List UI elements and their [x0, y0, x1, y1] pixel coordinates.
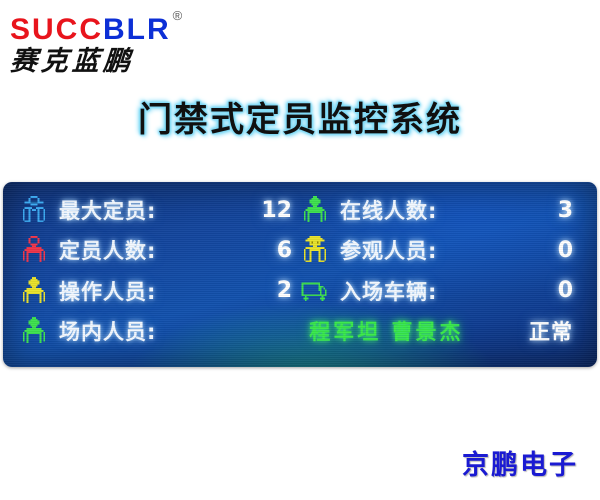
- led-cell-vehicle-count: 入场车辆: 0: [300, 276, 581, 306]
- led-row: 定员人数: 6 参观人员:: [19, 233, 581, 267]
- led-value: 3: [437, 198, 581, 223]
- led-value: 2: [156, 278, 300, 303]
- person-yellow-icon: [19, 277, 49, 305]
- person-hat-yellow-icon: [300, 236, 330, 264]
- onsite-person-names: 程军坦 曹景杰: [244, 316, 529, 346]
- led-label: 定员人数:: [59, 235, 156, 265]
- person-green-icon: [19, 317, 49, 345]
- logo-latin-text: SUCCBLR®: [10, 8, 260, 46]
- person-hat-blue-icon: [19, 196, 49, 224]
- person-red-icon: [19, 236, 49, 264]
- led-panel-content: 最大定员: 12 在线人数: 3: [19, 190, 581, 351]
- led-label: 入场车辆:: [340, 276, 437, 306]
- led-value: 0: [437, 278, 581, 303]
- led-value: 6: [156, 238, 300, 263]
- led-cell-onsite-label: 场内人员:: [19, 316, 244, 346]
- person-green-icon: [300, 196, 330, 224]
- led-cell-registered-count: 定员人数: 6: [19, 235, 300, 265]
- status-badge: 正常: [529, 316, 581, 346]
- led-label: 场内人员:: [59, 316, 156, 346]
- led-cell-max-capacity: 最大定员: 12: [19, 195, 300, 225]
- truck-green-icon: [300, 277, 330, 305]
- company-logo: SUCCBLR® 赛克蓝鹏: [10, 8, 260, 78]
- led-label: 最大定员:: [59, 195, 156, 225]
- led-cell-onsite-values: 程军坦 曹景杰 正常: [244, 316, 581, 346]
- led-value: 12: [156, 198, 300, 223]
- led-row-onsite: 场内人员: 程军坦 曹景杰 正常: [19, 314, 581, 348]
- logo-chinese-text: 赛克蓝鹏: [9, 47, 261, 77]
- logo-text-blr: BLR: [103, 13, 171, 46]
- registered-trademark-icon: ®: [173, 8, 185, 23]
- led-cell-visitor-count: 参观人员: 0: [300, 235, 581, 265]
- led-label: 在线人数:: [340, 195, 437, 225]
- led-row: 最大定员: 12 在线人数: 3: [19, 193, 581, 227]
- logo-text-succ: SUCC: [10, 13, 103, 46]
- led-row: 操作人员: 2: [19, 274, 581, 308]
- led-label: 操作人员:: [59, 276, 156, 306]
- footer-company-name: 京鹏电子: [462, 443, 578, 482]
- led-cell-online-count: 在线人数: 3: [300, 195, 581, 225]
- led-value: 0: [437, 238, 581, 263]
- led-display-panel: 最大定员: 12 在线人数: 3: [3, 182, 597, 367]
- page-title: 门禁式定员监控系统: [0, 92, 600, 141]
- led-cell-operator-count: 操作人员: 2: [19, 276, 300, 306]
- led-label: 参观人员:: [340, 235, 437, 265]
